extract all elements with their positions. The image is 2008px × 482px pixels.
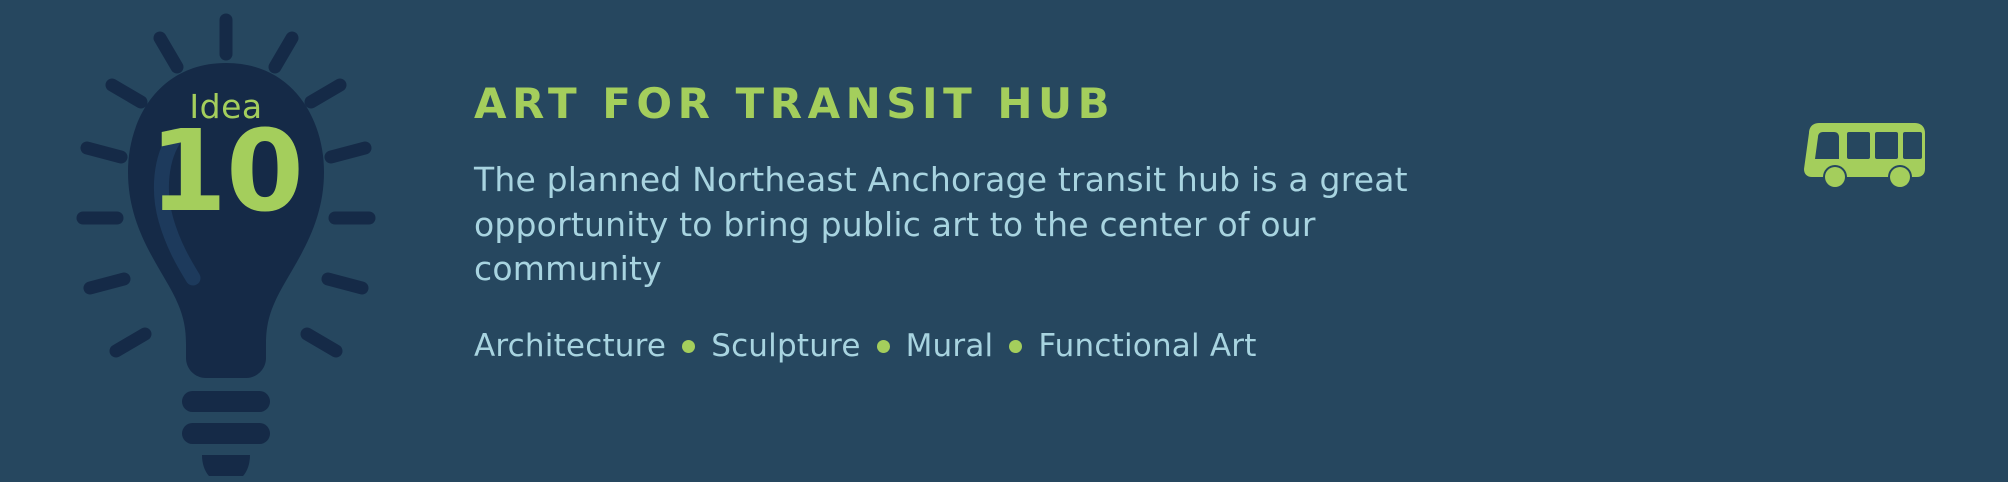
- bus-icon: [1803, 117, 1927, 189]
- lightbulb-badge: Idea 10: [56, 6, 396, 476]
- lightbulb-base-ring-2: [182, 423, 270, 444]
- tag-functional-art: Functional Art: [1038, 328, 1256, 365]
- bus-wheel-front: [1825, 167, 1845, 187]
- bullet-separator-icon: [682, 340, 695, 353]
- bus-icon-wrapper: [1803, 117, 1927, 189]
- bus-wheel-rear: [1890, 167, 1910, 187]
- lightbulb-glass: [128, 63, 324, 378]
- bus-windshield: [1815, 132, 1839, 159]
- description-text: The planned Northeast Anchorage transit …: [474, 126, 1484, 292]
- content-column: ART FOR TRANSIT HUB The planned Northeas…: [474, 82, 1754, 365]
- bullet-separator-icon: [1009, 340, 1022, 353]
- bus-window-3: [1903, 132, 1922, 159]
- tag-sculpture: Sculpture: [711, 328, 860, 365]
- bullet-separator-icon: [877, 340, 890, 353]
- tag-list: Architecture Sculpture Mural Functional …: [474, 292, 1754, 365]
- bus-window-1: [1847, 132, 1870, 159]
- lightbulb-base-tip: [202, 455, 250, 476]
- tag-architecture: Architecture: [474, 328, 666, 365]
- lightbulb-base-ring-1: [182, 391, 270, 412]
- lightbulb-icon: [56, 6, 396, 476]
- idea-banner: Idea 10 ART FOR TRANSIT HUB The planned …: [0, 0, 2008, 482]
- page-title: ART FOR TRANSIT HUB: [474, 82, 1754, 126]
- tag-mural: Mural: [906, 328, 994, 365]
- bus-window-2: [1875, 132, 1898, 159]
